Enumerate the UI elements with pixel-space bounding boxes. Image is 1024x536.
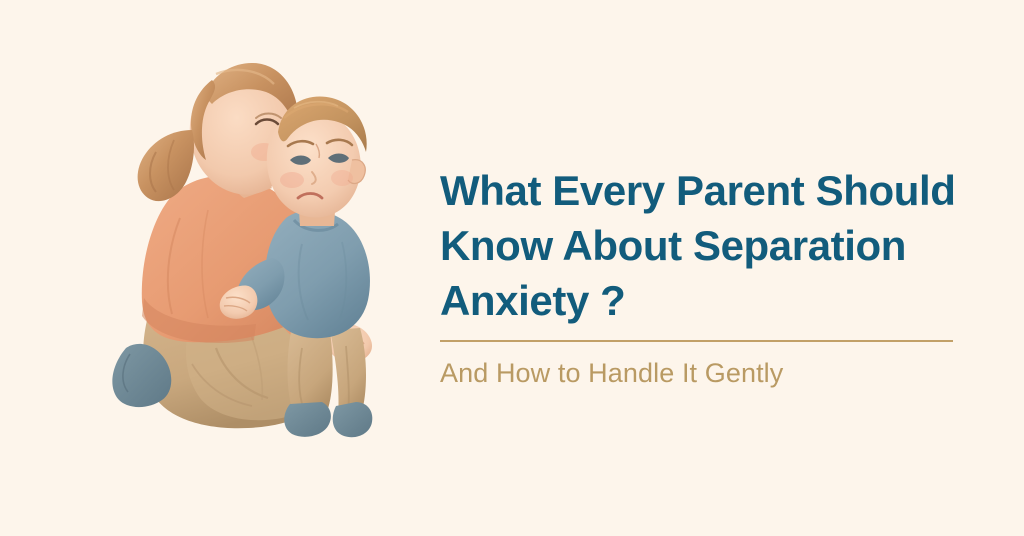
illustration-svg xyxy=(96,48,396,448)
page-title: What Every Parent Should Know About Sepa… xyxy=(440,163,960,328)
text-block: What Every Parent Should Know About Sepa… xyxy=(440,163,960,390)
title-divider xyxy=(440,340,953,342)
banner-root: What Every Parent Should Know About Sepa… xyxy=(0,0,1024,536)
page-subtitle: And How to Handle It Gently xyxy=(440,356,960,390)
mother-comforting-child-illustration xyxy=(96,48,396,448)
